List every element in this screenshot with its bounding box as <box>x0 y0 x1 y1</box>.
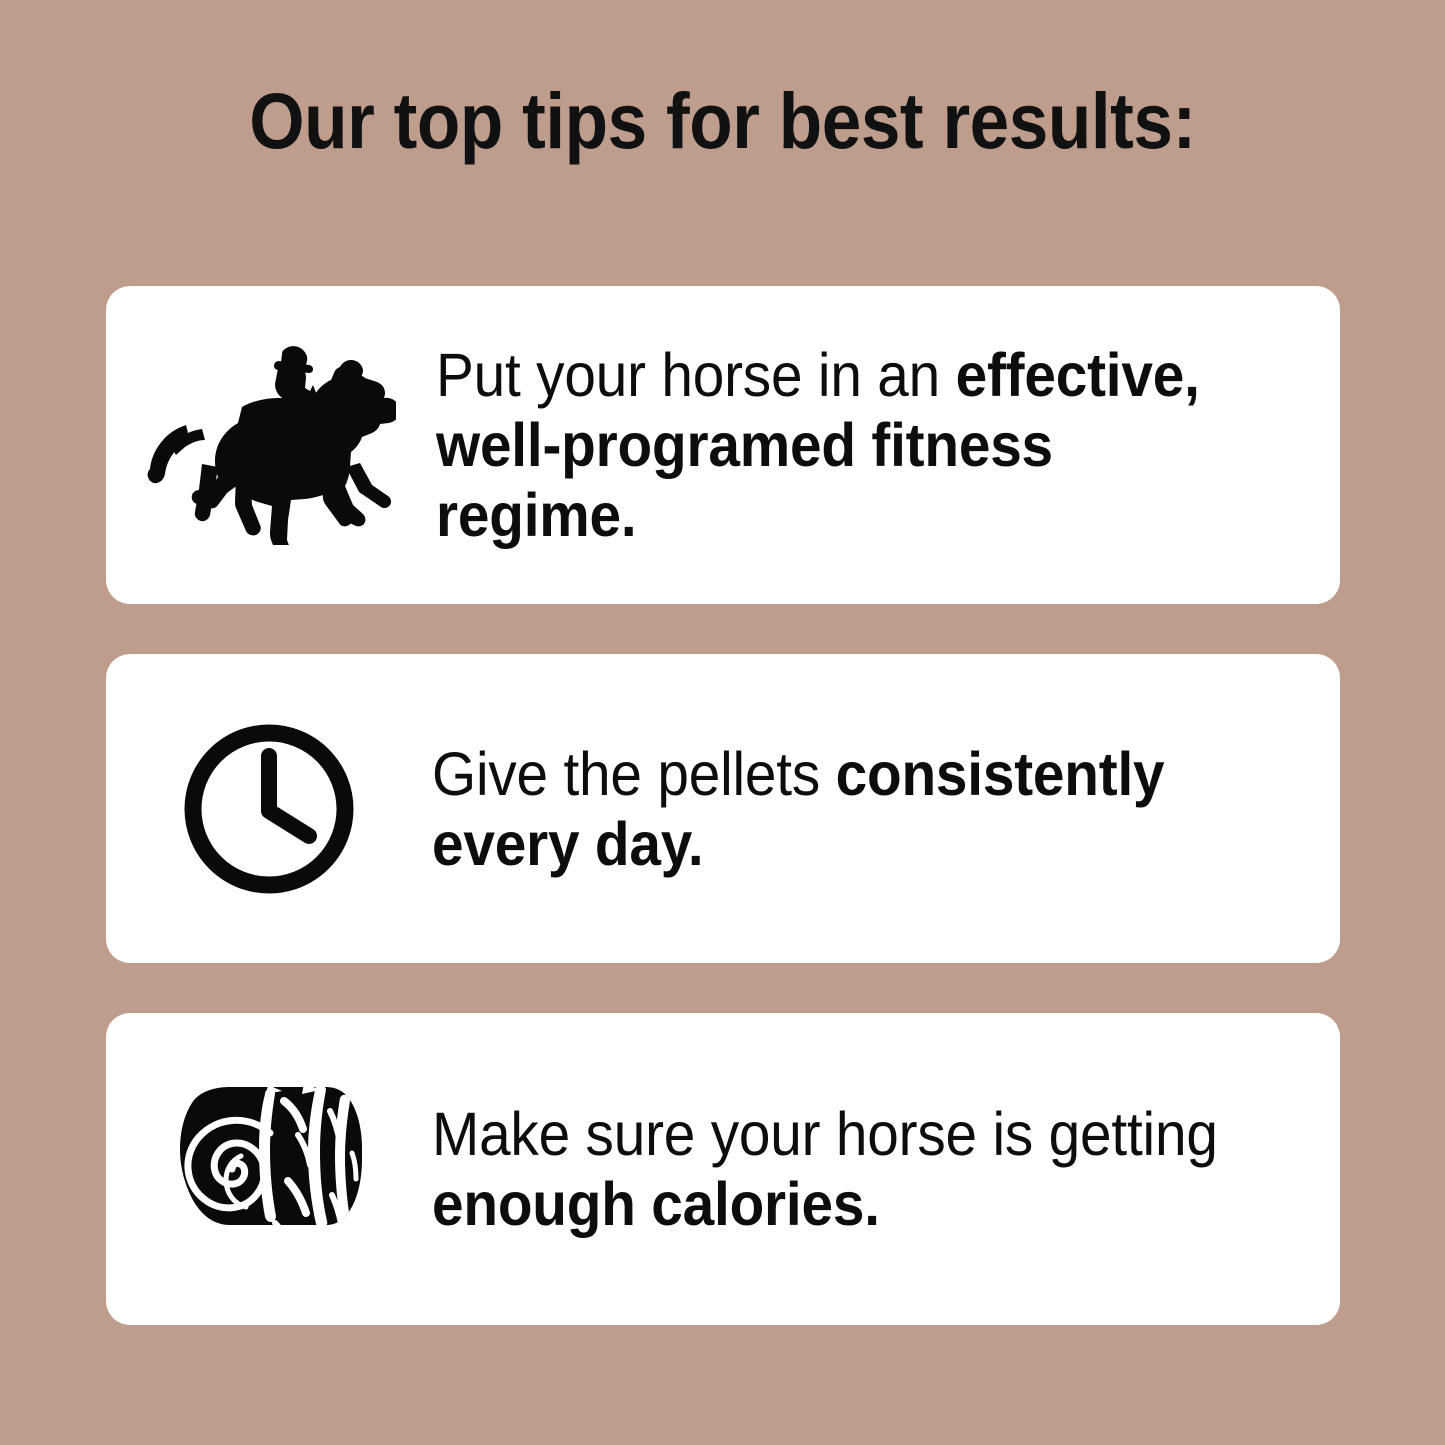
tip-text: Make sure your horse is getting enough c… <box>432 1099 1276 1239</box>
tip-text: Give the pellets consistently every day. <box>432 739 1276 879</box>
horse-and-rider-icon <box>106 286 436 604</box>
tip-text-regular: Put your horse in an <box>436 341 956 409</box>
tip-card[interactable]: Make sure your horse is getting enough c… <box>106 1013 1340 1325</box>
hay-bale-icon <box>106 1013 432 1325</box>
tip-card[interactable]: Put your horse in an effective, well-pro… <box>106 286 1340 604</box>
page-title: Our top tips for best results: <box>72 78 1373 164</box>
tip-text: Put your horse in an effective, well-pro… <box>436 340 1277 550</box>
tip-text-regular: Give the pellets <box>432 740 836 808</box>
tips-list: Put your horse in an effective, well-pro… <box>106 286 1340 1325</box>
clock-icon <box>106 654 432 963</box>
tips-poster: Our top tips for best results: <box>0 0 1445 1445</box>
tip-card[interactable]: Give the pellets consistently every day. <box>106 654 1340 963</box>
tip-text-regular: Make sure your horse is getting <box>432 1100 1218 1168</box>
tip-text-bold: enough calories. <box>432 1170 880 1238</box>
